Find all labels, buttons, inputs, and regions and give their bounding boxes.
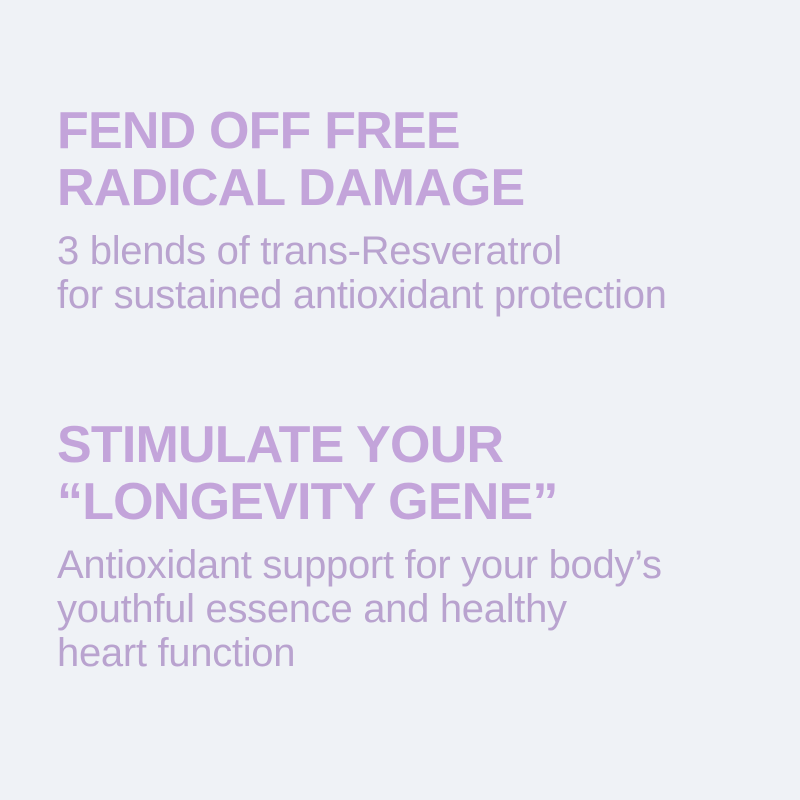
section-headline: FEND OFF FREE RADICAL DAMAGE <box>57 103 667 217</box>
section-subcopy: 3 blends of trans-Resveratrol for sustai… <box>57 229 667 317</box>
section-subcopy: Antioxidant support for your body’s yout… <box>57 543 662 675</box>
section-headline: STIMULATE YOUR “LONGEVITY GENE” <box>57 417 662 531</box>
marketing-poster: FEND OFF FREE RADICAL DAMAGE 3 blends of… <box>0 0 800 800</box>
benefit-section-free-radical: FEND OFF FREE RADICAL DAMAGE 3 blends of… <box>57 103 667 317</box>
benefit-section-longevity-gene: STIMULATE YOUR “LONGEVITY GENE” Antioxid… <box>57 417 662 675</box>
